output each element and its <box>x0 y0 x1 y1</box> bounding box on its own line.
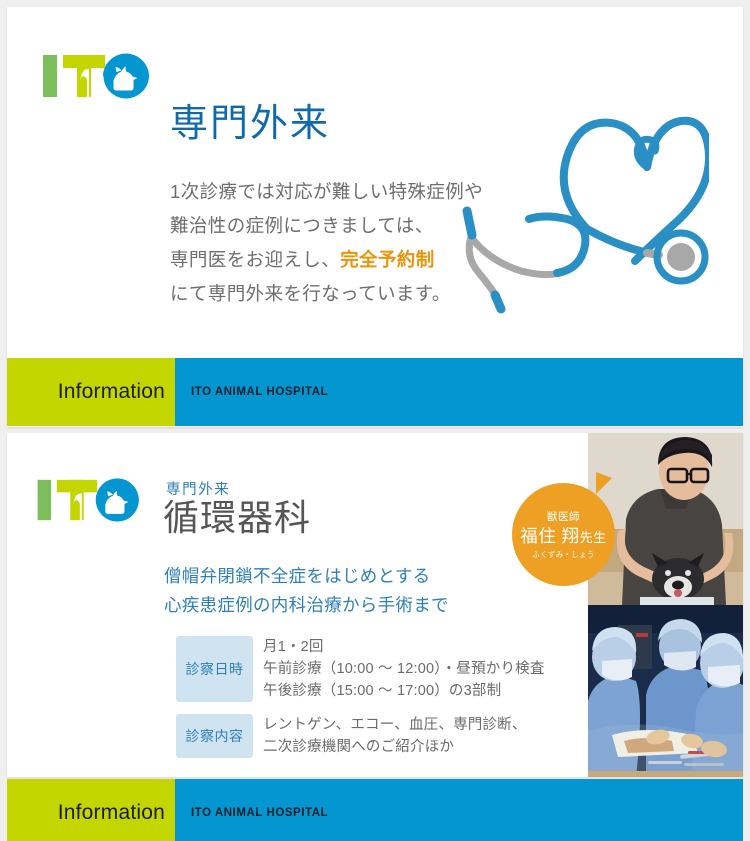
page-root: 専門外来 1次診療では対応が難しい特殊症例や 難治性の症例につきましては、 専門… <box>0 0 750 841</box>
doctor-honorific: 先生 <box>580 530 607 545</box>
information-bar-top: Information ITO ANIMAL HOSPITAL <box>7 358 743 426</box>
schedule-line-1: 月1・2回 <box>263 636 545 658</box>
hero-line-4: にて専門外来を行なっています。 <box>170 277 483 311</box>
schedule-line-3: 午後診療（15:00 ～ 17:00）の3部制 <box>263 680 545 702</box>
hero-description: 1次診療では対応が難しい特殊症例や 難治性の症例につきましては、 専門医をお迎え… <box>170 175 483 311</box>
page-title: 専門外来 <box>170 105 330 143</box>
doctor-badge: 獣医師 福住 翔先生 ふくずみ・しょう <box>512 483 615 586</box>
detail-value-schedule: 月1・2回 午前診療（10:00 ～ 12:00）・昼預かり検査 午後診療（15… <box>263 636 545 702</box>
photo-surgery-team <box>588 605 743 777</box>
detail-value-services: レントゲン、エコー、血圧、専門診断、 二次診療機関へのご紹介ほか <box>263 714 527 758</box>
information-label: Information <box>58 380 165 404</box>
services-line-1: レントゲン、エコー、血圧、専門診断、 <box>263 714 527 736</box>
ito-logo-secondary[interactable] <box>37 476 140 524</box>
detail-tag-services: 診察内容 <box>176 714 253 758</box>
doctor-name: 福住 翔 <box>520 526 579 546</box>
hero-line-2: 難治性の症例につきましては、 <box>170 209 483 243</box>
information-label-bottom: Information <box>58 801 165 825</box>
hospital-name-block: ITO ANIMAL HOSPITAL <box>175 358 743 426</box>
hero-line-3-pre: 専門医をお迎えし、 <box>170 249 340 270</box>
hospital-name-bottom: ITO ANIMAL HOSPITAL <box>191 807 328 819</box>
detail-row-schedule: 診察日時 月1・2回 午前診療（10:00 ～ 12:00）・昼預かり検査 午後… <box>176 636 545 702</box>
schedule-line-2: 午前診療（10:00 ～ 12:00）・昼預かり検査 <box>263 658 545 680</box>
hero-line-3: 専門医をお迎えし、完全予約制 <box>170 243 483 277</box>
hero-line-1: 1次診療では対応が難しい特殊症例や <box>170 175 483 209</box>
information-label-block: Information <box>7 358 175 426</box>
detail-row-services: 診察内容 レントゲン、エコー、血圧、専門診断、 二次診療機関へのご紹介ほか <box>176 714 545 758</box>
badge-pointer <box>596 472 612 494</box>
information-label-block-bottom: Information <box>7 779 175 841</box>
doctor-role: 獣医師 <box>547 509 580 524</box>
department-title: 循環器科 <box>163 498 311 538</box>
hospital-name: ITO ANIMAL HOSPITAL <box>191 386 328 398</box>
ito-logo[interactable] <box>43 51 149 101</box>
department-details: 診察日時 月1・2回 午前診療（10:00 ～ 12:00）・昼預かり検査 午後… <box>176 636 545 770</box>
doctor-furigana: ふくずみ・しょう <box>532 549 594 560</box>
department-lead: 僧帽弁閉鎖不全症をはじめとする 心疾患症例の内科治療から手術まで <box>164 562 449 620</box>
department-eyebrow: 専門外来 <box>166 478 230 499</box>
services-line-2: 二次診療機関へのご紹介ほか <box>263 736 527 758</box>
department-lead-line-1: 僧帽弁閉鎖不全症をはじめとする <box>164 562 449 591</box>
information-bar-bottom: Information ITO ANIMAL HOSPITAL <box>7 779 743 841</box>
detail-tag-schedule: 診察日時 <box>176 636 253 702</box>
heart-stethoscope-icon <box>459 85 709 315</box>
reservation-required-highlight: 完全予約制 <box>340 249 435 270</box>
hospital-name-block-bottom: ITO ANIMAL HOSPITAL <box>175 779 743 841</box>
department-lead-line-2: 心疾患症例の内科治療から手術まで <box>164 591 449 620</box>
doctor-name-row: 福住 翔先生 <box>520 528 606 546</box>
